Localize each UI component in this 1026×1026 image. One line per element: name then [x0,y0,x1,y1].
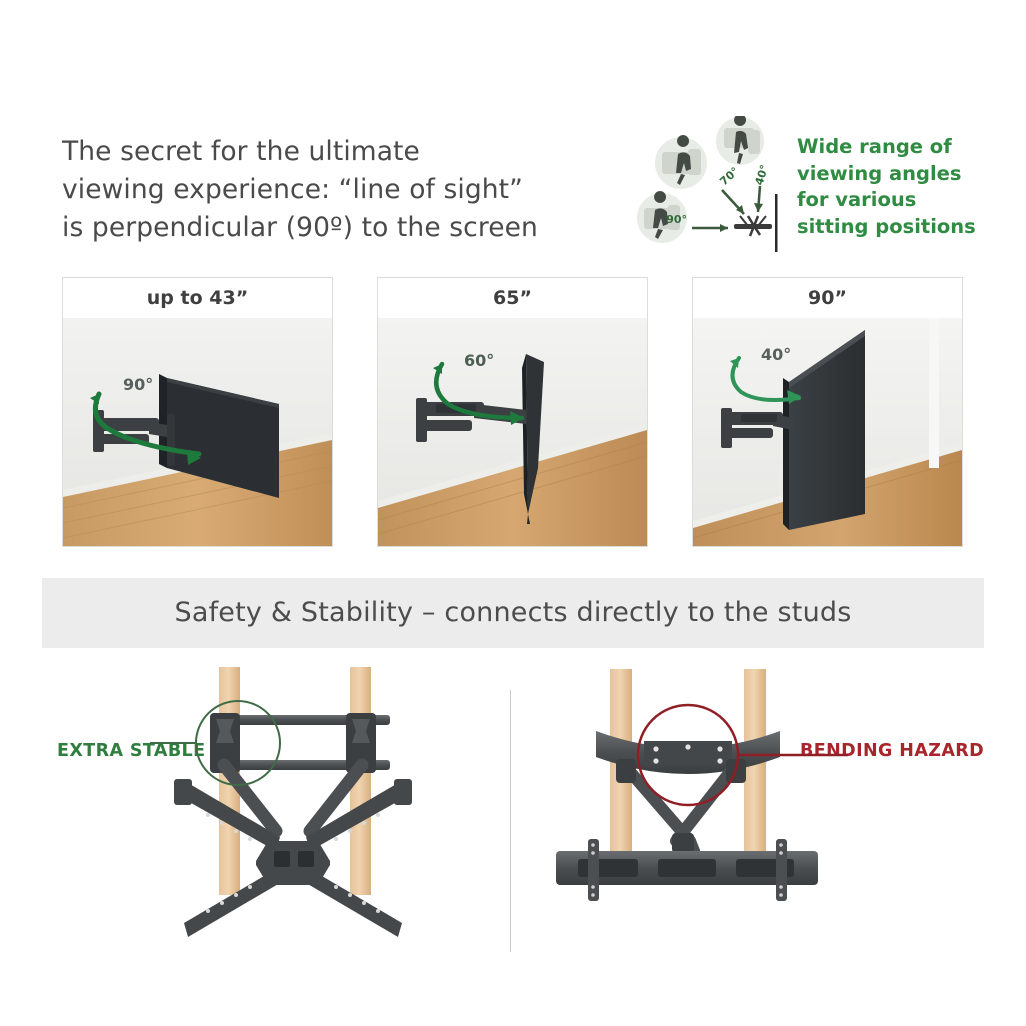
stability-comparison: EXTRA STABLE BENDING HAZARD [0,655,1026,955]
angle-arrow-70 [722,190,744,214]
headline-line-2: viewing experience: “line of sight” [62,171,582,209]
panel-title-1: up to 43” [63,278,332,318]
seated-person-badge-top-right [716,116,764,165]
wall-stud-right-2 [744,669,766,869]
safety-banner: Safety & Stability – connects directly t… [42,578,984,648]
infographic-root: The secret for the ultimate viewing expe… [0,0,1026,1026]
tv-mount-glyph [734,216,772,236]
panel-photo-2: 60° [378,318,647,546]
panel-title-3: 90” [693,278,962,318]
panel-65: 65” [377,277,648,547]
panel-photo-1: 90° [63,318,332,546]
blurb-line-1: Wide range of [797,134,997,161]
panel-angle-1: 90° [123,375,153,394]
blurb-line-2: viewing angles [797,161,997,188]
angle-arrow-90 [692,224,728,232]
page-title: The secret for the ultimate viewing expe… [62,133,582,247]
panel-angle-3: 40° [761,345,791,364]
angle-arrow-40 [754,186,763,212]
angle-label-70: 70° [717,165,741,189]
diagram-extra-stable [150,655,470,945]
wall-line [775,194,778,252]
viewing-angle-icon-cluster: 90° 70° 40° [636,116,786,252]
blurb-line-3: for various [797,187,997,214]
panel-title-2: 65” [378,278,647,318]
blurb-line-4: sitting positions [797,214,997,241]
angle-label-90: 90° [666,213,687,226]
headline-line-1: The secret for the ultimate [62,133,582,171]
comparison-divider [510,690,511,952]
panel-photo-3: 40° [693,318,962,546]
size-panels: up to 43” [0,277,1026,549]
diagram-bending-hazard [548,655,878,945]
panel-angle-2: 60° [464,351,494,370]
seated-person-badge-middle-left [655,135,707,189]
headline-line-3: is perpendicular (90º) to the screen [62,209,582,247]
safety-banner-text: Safety & Stability – connects directly t… [42,578,984,648]
panel-90: 90” [692,277,963,547]
angle-label-40: 40° [752,163,771,187]
panel-up-to-43: up to 43” [62,277,333,547]
mount-x-frame [174,779,412,937]
viewing-angles-blurb: Wide range of viewing angles for various… [797,134,997,240]
